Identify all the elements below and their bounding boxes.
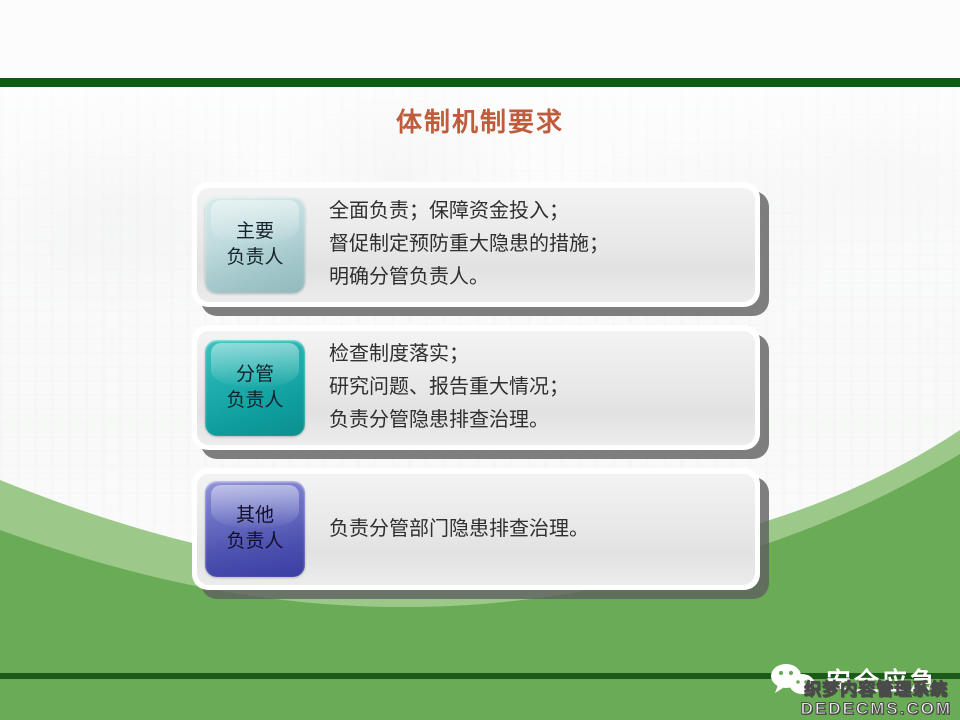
role-badge-other-responsible[interactable]: 其他 负责人 bbox=[205, 481, 305, 577]
card-inner: 主要 负责人 全面负责；保障资金投入； 督促制定预防重大隐患的措施； 明确分管负… bbox=[197, 187, 755, 302]
wechat-icon bbox=[770, 663, 816, 697]
card-inner: 其他 负责人 负责分管部门隐患排查治理。 bbox=[197, 473, 755, 585]
card-inner: 分管 负责人 检查制度落实； 研究问题、报告重大情况； 负责分管隐患排查治理。 bbox=[197, 330, 755, 445]
slide-canvas: 体制机制要求 主要 负责人 全面负责；保障资金投入； 督促制定预防重大隐患的措施… bbox=[0, 0, 960, 720]
role-badge-line1: 主要 bbox=[236, 219, 274, 245]
watermark-line-en: DEDECMS.COM bbox=[801, 700, 952, 718]
card-body-text: 检查制度落实； 研究问题、报告重大情况； 负责分管隐患排查治理。 bbox=[305, 338, 745, 437]
card-body-text: 负责分管部门隐患排查治理。 bbox=[305, 513, 745, 546]
card-body-text: 全面负责；保障资金投入； 督促制定预防重大隐患的措施； 明确分管负责人。 bbox=[305, 195, 745, 294]
responsibility-card[interactable]: 分管 负责人 检查制度落实； 研究问题、报告重大情况； 负责分管隐患排查治理。 bbox=[192, 325, 760, 450]
page-title: 体制机制要求 bbox=[0, 102, 960, 139]
header-band bbox=[0, 0, 960, 78]
responsibility-card[interactable]: 其他 负责人 负责分管部门隐患排查治理。 bbox=[192, 468, 760, 590]
responsibility-card-list: 主要 负责人 全面负责；保障资金投入； 督促制定预防重大隐患的措施； 明确分管负… bbox=[192, 182, 792, 608]
top-green-rule bbox=[0, 78, 960, 87]
role-badge-line1: 分管 bbox=[236, 362, 274, 388]
role-badge-line1: 其他 bbox=[236, 503, 274, 529]
role-badge-line2: 负责人 bbox=[226, 245, 283, 271]
responsibility-card[interactable]: 主要 负责人 全面负责；保障资金投入； 督促制定预防重大隐患的措施； 明确分管负… bbox=[192, 182, 760, 307]
role-badge-line2: 负责人 bbox=[226, 529, 283, 555]
role-badge-line2: 负责人 bbox=[226, 388, 283, 414]
role-badge-deputy-responsible[interactable]: 分管 负责人 bbox=[205, 340, 305, 436]
wechat-brand-label: 安全应急 bbox=[826, 662, 938, 698]
wechat-brand: 安全应急 bbox=[770, 662, 938, 698]
role-badge-primary-responsible[interactable]: 主要 负责人 bbox=[205, 197, 305, 293]
